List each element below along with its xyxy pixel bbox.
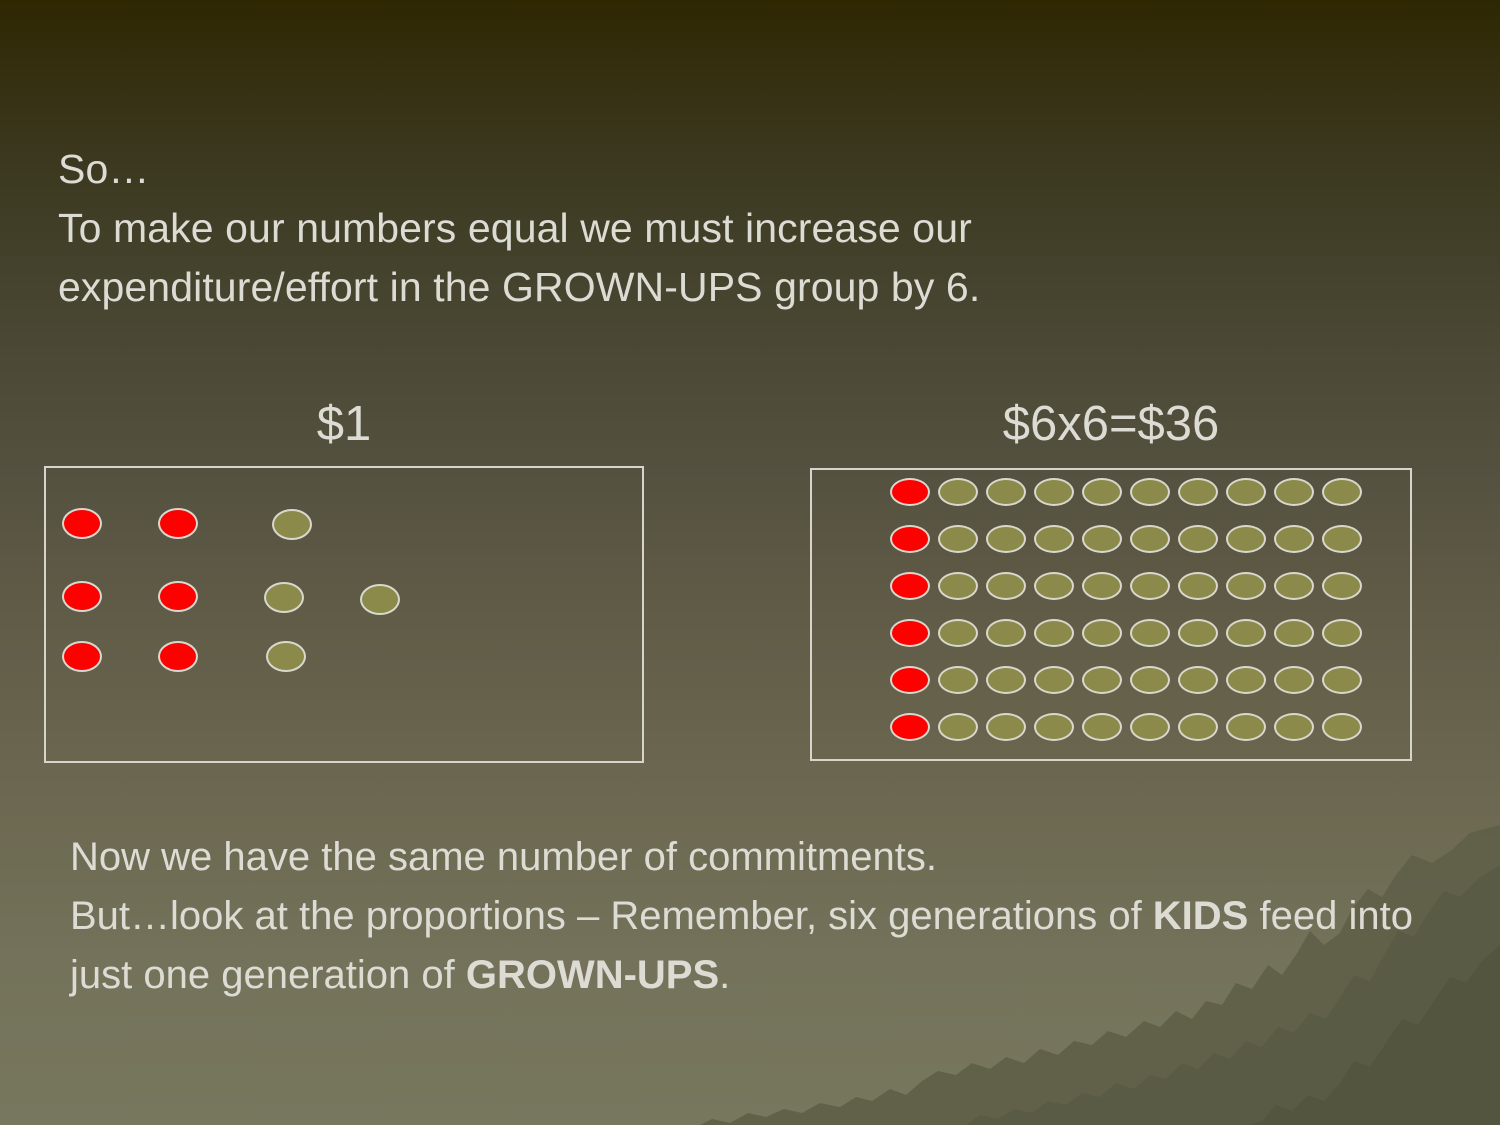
olive-dot <box>1082 666 1122 694</box>
red-dot <box>62 641 102 672</box>
olive-dot <box>272 509 312 540</box>
olive-dot <box>1082 478 1122 506</box>
olive-dot <box>1034 478 1074 506</box>
footer-text: Now we have the same number of commitmen… <box>70 828 1450 1004</box>
footer-line-2: But…look at the proportions – Remember, … <box>70 887 1450 1005</box>
olive-dot <box>1178 525 1218 553</box>
olive-dot <box>1274 666 1314 694</box>
olive-dot <box>938 666 978 694</box>
red-dot <box>62 508 102 539</box>
red-dot <box>890 572 930 600</box>
olive-dot <box>1034 619 1074 647</box>
olive-dot <box>1274 619 1314 647</box>
red-dot <box>890 619 930 647</box>
olive-dot <box>938 572 978 600</box>
olive-dot <box>1034 666 1074 694</box>
footer-emphasis-grownups: GROWN-UPS <box>466 953 719 997</box>
olive-dot <box>1130 525 1170 553</box>
olive-dot <box>986 619 1026 647</box>
olive-dot <box>1130 478 1170 506</box>
footer-emphasis-kids: KIDS <box>1153 894 1249 938</box>
olive-dot <box>1322 619 1362 647</box>
olive-dot <box>1226 666 1266 694</box>
red-dot <box>158 508 198 539</box>
olive-dot <box>1034 713 1074 741</box>
olive-dot <box>1178 713 1218 741</box>
red-dot <box>890 525 930 553</box>
olive-dot <box>1226 572 1266 600</box>
red-dot <box>158 641 198 672</box>
olive-dot <box>938 619 978 647</box>
red-dot <box>62 581 102 612</box>
olive-dot <box>264 582 304 613</box>
group-caption-left: $1 <box>44 400 644 449</box>
olive-dot <box>1274 713 1314 741</box>
olive-dot <box>1130 713 1170 741</box>
olive-dot <box>1034 525 1074 553</box>
olive-dot <box>1130 572 1170 600</box>
red-dot <box>890 666 930 694</box>
olive-dot <box>1322 478 1362 506</box>
olive-dot <box>1322 572 1362 600</box>
headline-text: So… To make our numbers equal we must in… <box>58 140 1238 317</box>
red-dot <box>158 581 198 612</box>
olive-dot <box>1034 572 1074 600</box>
group-panel-left <box>44 466 644 763</box>
olive-dot <box>1082 572 1122 600</box>
olive-dot <box>1274 572 1314 600</box>
olive-dot <box>1226 525 1266 553</box>
olive-dot <box>1274 478 1314 506</box>
olive-dot <box>1226 713 1266 741</box>
olive-dot <box>1322 713 1362 741</box>
footer-line-1: Now we have the same number of commitmen… <box>70 828 1450 887</box>
olive-dot <box>938 713 978 741</box>
olive-dot <box>1178 666 1218 694</box>
red-dot <box>890 478 930 506</box>
olive-dot <box>1322 525 1362 553</box>
slide-canvas: So… To make our numbers equal we must in… <box>0 0 1500 1125</box>
footer-line-2-part-c: . <box>719 953 730 997</box>
olive-dot <box>1226 478 1266 506</box>
olive-dot <box>1178 619 1218 647</box>
red-dot <box>890 713 930 741</box>
olive-dot <box>1130 619 1170 647</box>
olive-dot <box>986 572 1026 600</box>
olive-dot <box>360 584 400 615</box>
olive-dot <box>1274 525 1314 553</box>
olive-dot <box>1178 572 1218 600</box>
olive-dot <box>986 666 1026 694</box>
olive-dot <box>986 525 1026 553</box>
olive-dot <box>938 478 978 506</box>
olive-dot <box>986 713 1026 741</box>
olive-dot <box>266 641 306 672</box>
olive-dot <box>986 478 1026 506</box>
olive-dot <box>1178 478 1218 506</box>
olive-dot <box>1082 619 1122 647</box>
olive-dot <box>1226 619 1266 647</box>
olive-dot <box>1322 666 1362 694</box>
footer-line-2-part-a: But…look at the proportions – Remember, … <box>70 894 1153 938</box>
group-caption-right: $6x6=$36 <box>810 400 1412 449</box>
olive-dot <box>1130 666 1170 694</box>
olive-dot <box>1082 525 1122 553</box>
olive-dot <box>1082 713 1122 741</box>
olive-dot <box>938 525 978 553</box>
